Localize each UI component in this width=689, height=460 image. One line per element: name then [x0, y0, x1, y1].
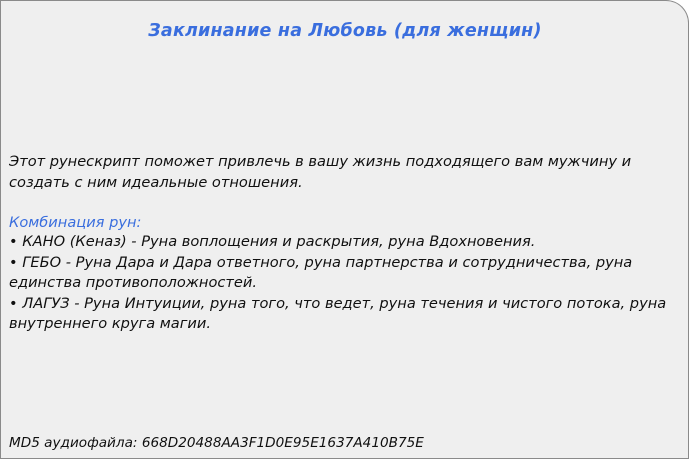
page-title: Заклинание на Любовь (для женщин) [9, 21, 681, 41]
list-item: • ГЕБО - Руна Дара и Дара ответного, рун… [9, 253, 677, 294]
list-item: • КАНО (Кеназ) - Руна воплощения и раскр… [9, 232, 677, 253]
bullet-icon: • [9, 254, 18, 271]
bullet-icon: • [9, 295, 18, 312]
list-item-label: ЛАГУЗ - Руна Интуиции, руна того, что ве… [9, 295, 666, 333]
bullet-icon: • [9, 233, 18, 250]
list-item: • ЛАГУЗ - Руна Интуиции, руна того, что … [9, 294, 677, 335]
runes-section-heading: Комбинация рун: [9, 212, 141, 233]
list-item-label: КАНО (Кеназ) - Руна воплощения и раскрыт… [22, 233, 535, 250]
md5-footer: MD5 аудиофайла: 668D20488AA3F1D0E95E1637… [9, 435, 424, 451]
content-panel: Заклинание на Любовь (для женщин) Этот р… [0, 0, 689, 459]
runes-list: • КАНО (Кеназ) - Руна воплощения и раскр… [9, 232, 677, 335]
md5-value: 668D20488AA3F1D0E95E1637A410B75E [142, 435, 424, 451]
panel-content: Заклинание на Любовь (для женщин) Этот р… [1, 1, 689, 460]
intro-paragraph: Этот рунескрипт поможет привлечь в вашу … [9, 151, 674, 193]
md5-label: MD5 аудиофайла: [9, 435, 137, 451]
list-item-label: ГЕБО - Руна Дара и Дара ответного, руна … [9, 254, 632, 292]
